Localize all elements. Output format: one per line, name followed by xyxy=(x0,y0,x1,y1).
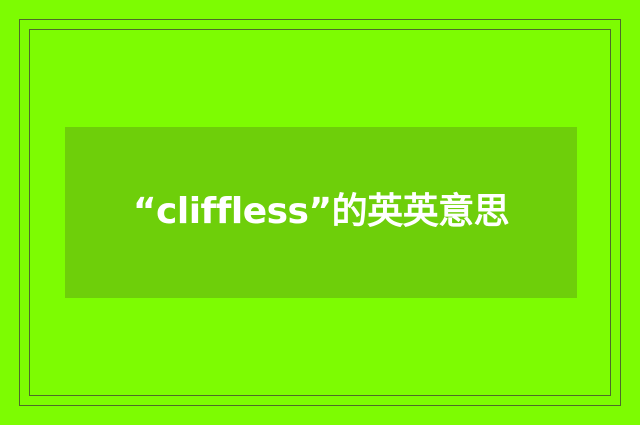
page-title: “cliffless”的英英意思 xyxy=(125,186,517,238)
image-canvas: “cliffless”的英英意思 xyxy=(0,0,640,425)
title-panel: “cliffless”的英英意思 xyxy=(65,127,577,298)
